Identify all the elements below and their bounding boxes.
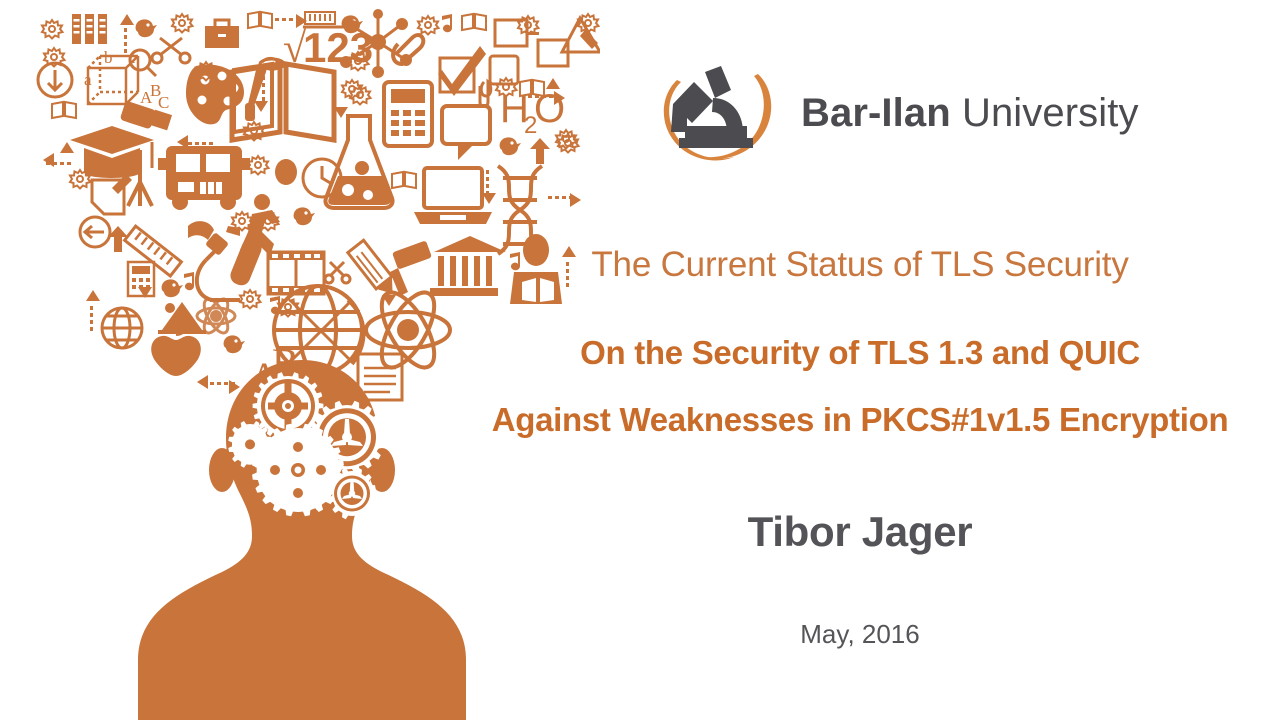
logo-wordmark-bold: Bar-Ilan <box>801 91 951 135</box>
left-arrow-circle-icon <box>80 217 110 247</box>
svg-text:123: 123 <box>303 24 373 71</box>
ruler-icon <box>305 12 335 24</box>
calculator-icon <box>384 82 432 146</box>
university-logo: Bar-Ilan University <box>655 58 1155 168</box>
main-title-line-1: On the Security of TLS 1.3 and QUIC <box>440 336 1280 369</box>
logo-wordmark: Bar-Ilan University <box>801 93 1139 133</box>
author-name: Tibor Jager <box>440 511 1280 553</box>
series-title: The Current Status of TLS Security <box>440 247 1280 282</box>
title-slide: b c a A B C <box>0 0 1280 720</box>
svg-text:b: b <box>104 48 113 67</box>
notepad-pencil-icon <box>92 174 132 214</box>
school-bus-icon <box>158 146 250 210</box>
hand-icon <box>188 221 214 240</box>
talk-date: May, 2016 <box>440 621 1280 647</box>
main-title-line-2: Against Weaknesses in PKCS#1v1.5 Encrypt… <box>440 403 1280 436</box>
head-dot-icon <box>275 159 297 185</box>
paint-roller-icon <box>390 240 432 296</box>
gear-small-ring-icon <box>328 468 376 520</box>
svg-text:C: C <box>158 93 169 112</box>
scissors-icon <box>152 38 190 63</box>
wifi-globe-icon <box>102 308 142 348</box>
paperclip-icon-2 <box>393 35 423 64</box>
content-column: Bar-Ilan University The Current Status o… <box>440 0 1280 720</box>
books-icon <box>72 14 107 44</box>
briefcase-icon <box>205 20 239 48</box>
gear-big-toothed-icon <box>252 424 344 517</box>
down-arrow-circle-icon <box>38 63 72 97</box>
microscope-logo-icon <box>655 58 785 168</box>
scissors-small-icon <box>325 262 350 283</box>
logo-wordmark-light: University <box>962 91 1139 135</box>
cube-icon <box>88 56 138 104</box>
